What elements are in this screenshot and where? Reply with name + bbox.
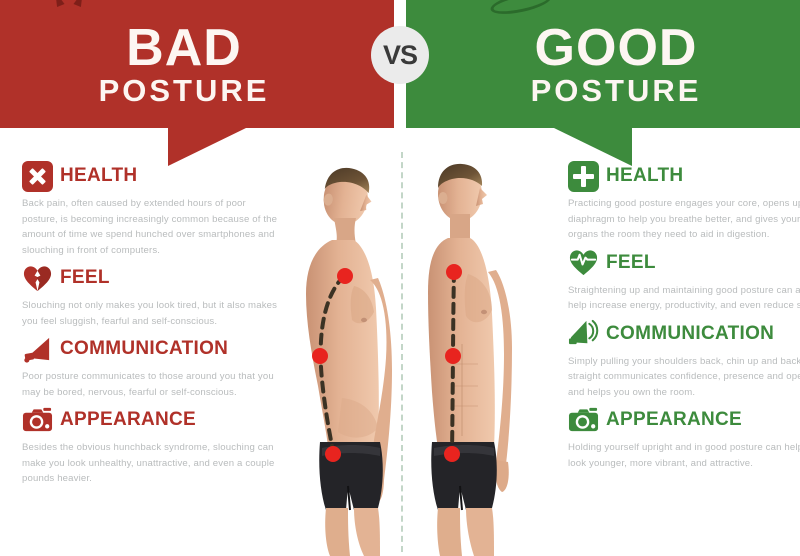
banner-good-title: GOOD [535,24,698,73]
section-body: Besides the obvious hunchback syndrome, … [22,440,284,487]
section-body: Poor posture communicates to those aroun… [22,369,284,400]
section-title: FEEL [60,267,110,289]
halo-icon [489,0,553,18]
section-body: Straightening up and maintaining good po… [568,283,800,314]
section-body: Slouching not only makes you look tired,… [22,298,284,329]
camera-icon [22,405,53,436]
vs-badge: VS [371,26,429,84]
heartbeat-heart-icon [568,247,599,278]
section-good-health: HEALTH Practicing good posture engages y… [568,160,800,243]
section-bad-communication: COMMUNICATION Poor posture communicates … [22,333,284,400]
section-title: FEEL [606,252,656,274]
section-good-appearance: APPEARANCE Holding yourself upright and … [568,404,800,471]
section-body: Back pain, often caused by extended hour… [22,196,284,258]
slouched-male-figure [292,148,396,556]
banner-bad-title: BAD [126,24,242,73]
figures-divider [401,152,403,552]
broken-heart-icon [22,263,53,294]
plus-mark-icon [568,161,599,192]
column-good-posture: HEALTH Practicing good posture engages y… [568,160,800,475]
section-title: APPEARANCE [606,409,742,431]
section-title: COMMUNICATION [606,323,774,345]
megaphone-down-icon [22,334,53,365]
section-body: Holding yourself upright and in good pos… [568,440,800,471]
section-title: HEALTH [60,165,137,187]
section-good-communication: COMMUNICATION Simply pulling your should… [568,318,800,401]
devil-horns-icon [52,0,92,7]
infographic-root: BAD POSTURE GOOD POSTURE VS HEALTH Back … [0,0,800,556]
banner-good-posture: GOOD POSTURE [406,0,800,128]
section-body: Practicing good posture engages your cor… [568,196,800,243]
section-body: Simply pulling your shoulders back, chin… [568,354,800,401]
section-title: HEALTH [606,165,683,187]
section-title: APPEARANCE [60,409,196,431]
section-bad-health: HEALTH Back pain, often caused by extend… [22,160,284,258]
banner-bad-posture: BAD POSTURE [0,0,394,128]
banner-good-subtitle: POSTURE [531,75,702,108]
camera-icon [568,405,599,436]
section-bad-appearance: APPEARANCE Besides the obvious hunchback… [22,404,284,487]
banner-bad-subtitle: POSTURE [99,75,270,108]
posture-comparison-figures [290,148,512,556]
upright-male-figure [408,148,512,556]
x-mark-icon [22,161,53,192]
section-title: COMMUNICATION [60,338,228,360]
section-good-feel: FEEL Straightening up and maintaining go… [568,247,800,314]
megaphone-up-icon [568,318,599,349]
column-bad-posture: HEALTH Back pain, often caused by extend… [22,160,284,491]
section-bad-feel: FEEL Slouching not only makes you look t… [22,262,284,329]
